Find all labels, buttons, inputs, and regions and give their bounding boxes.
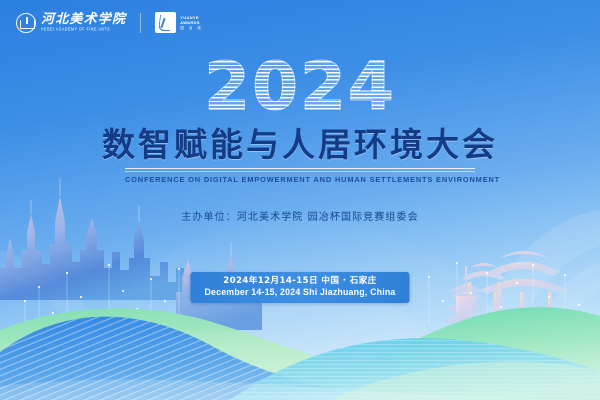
logo-hebei-academy-en: HEBEI ACADEMY OF FINE ARTS <box>41 28 126 32</box>
logo-hebei-academy[interactable]: 河北美术学院 HEBEI ACADEMY OF FINE ARTS <box>16 13 126 33</box>
title-rule-bottom <box>125 171 475 172</box>
host-label: 主办单位： <box>181 212 237 223</box>
page-title: 数智赋能与人居环境大会 <box>0 126 600 164</box>
logo-yuanye-cn: 园 冶 奖 <box>180 26 203 30</box>
host-organizations: 河北美术学院 园冶杯国际竞赛组委会 <box>237 212 419 223</box>
yuanye-leaf-mark-icon <box>155 12 176 33</box>
subtitle-block: CONFERENCE ON DIGITAL EMPOWERMENT AND HU… <box>125 168 475 184</box>
logo-yuanye-en-line2: AWARDS <box>180 20 203 25</box>
logo-yuanye-awards[interactable]: YUANYE AWARDS 园 冶 奖 <box>155 12 203 33</box>
year-wrapper: 2024 <box>0 54 600 120</box>
circular-seal-icon <box>16 13 36 33</box>
date-location-en: December 14-15, 2024 Shi Jiazhuang, Chin… <box>204 287 395 298</box>
logo-hebei-academy-cn: 河北美术学院 <box>41 13 126 26</box>
logo-divider <box>140 13 141 33</box>
logo-bar: 河北美术学院 HEBEI ACADEMY OF FINE ARTS YUANYE… <box>16 12 203 33</box>
page-subtitle-en: CONFERENCE ON DIGITAL EMPOWERMENT AND HU… <box>125 175 475 184</box>
date-location-cn: 2024年12月14-15日 中国 · 石家庄 <box>204 276 395 287</box>
date-location-badge: 2024年12月14-15日 中国 · 石家庄 December 14-15, … <box>190 272 409 303</box>
conference-banner: 河北美术学院 HEBEI ACADEMY OF FINE ARTS YUANYE… <box>0 0 600 400</box>
title-rule-top <box>125 168 475 169</box>
hero-year: 2024 <box>204 54 396 120</box>
host-line: 主办单位：河北美术学院 园冶杯国际竞赛组委会 <box>0 208 600 223</box>
